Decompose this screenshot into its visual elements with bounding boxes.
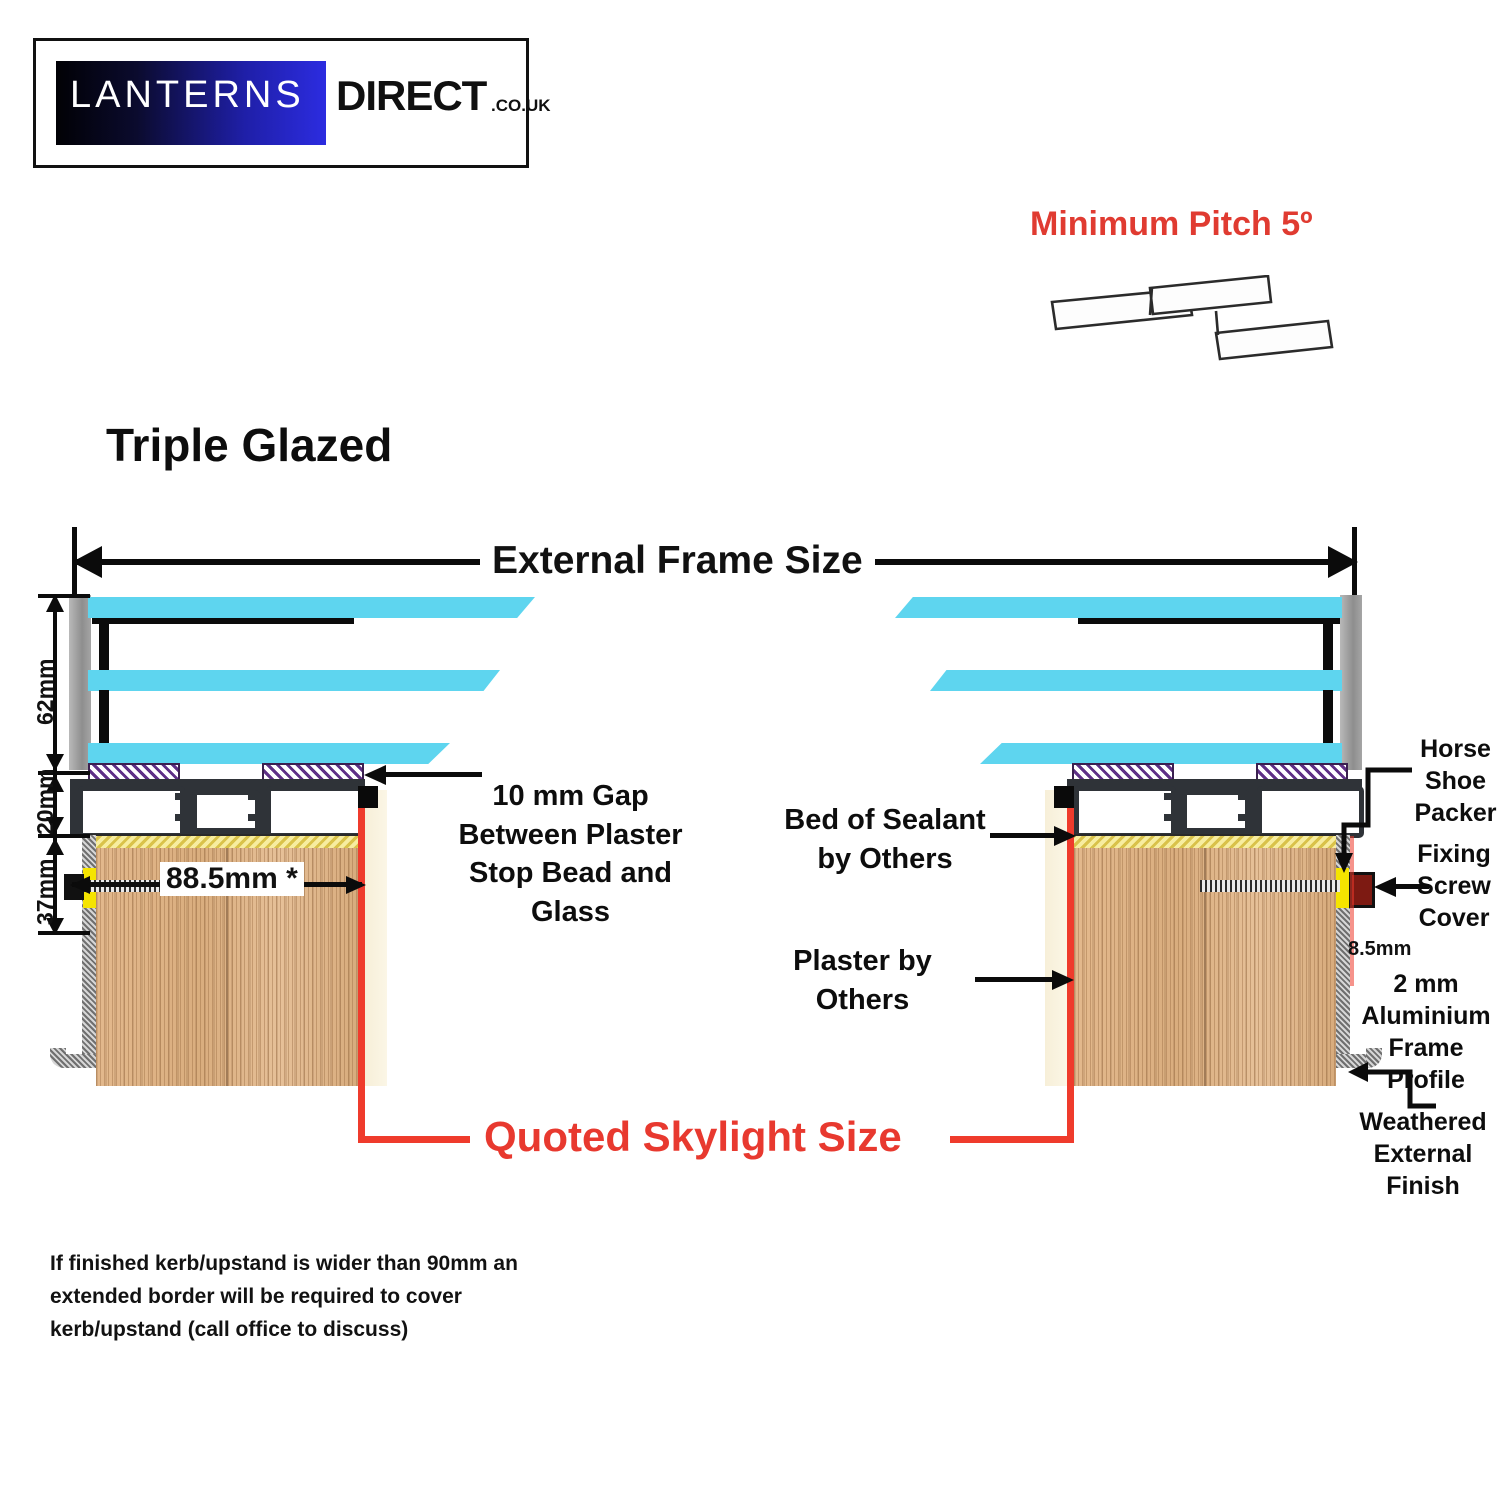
callout-horse-line-3: Packer [1408, 797, 1500, 829]
thermal-break-lower-left-right [1164, 814, 1184, 821]
callout-weather-line-3: Finish [1348, 1170, 1498, 1202]
footnote-text: If finished kerb/upstand is wider than 9… [50, 1247, 520, 1347]
qss-drop-left [358, 1081, 365, 1141]
callout-horse-shoe-packer: Horse Shoe Packer [1408, 733, 1500, 829]
callout-gap-line-3: Stop Bead and [448, 854, 693, 893]
thermal-break-lower-right-right [1238, 814, 1258, 821]
glass-spacer-top-right [1078, 618, 1340, 624]
callout-sealant: Bed of Sealant by Others [770, 801, 1000, 878]
callout-gap: 10 mm Gap Between Plaster Stop Bead and … [448, 777, 693, 931]
plaster-leader-line [975, 977, 1059, 982]
right-frame-edge-band [1340, 595, 1362, 770]
quoted-size-line-left [358, 786, 365, 1086]
callout-gap-line-1: 10 mm Gap [448, 777, 693, 816]
frame-chamber-inner-right [1074, 786, 1176, 838]
glass-pane-inner [88, 743, 450, 764]
thermal-break-upper-right [248, 793, 268, 800]
callout-horse-line-2: Shoe [1408, 765, 1500, 797]
callout-gap-line-2: Between Plaster [448, 816, 693, 855]
fixing-arrow-icon [1372, 876, 1398, 898]
glass-spacer-top [92, 618, 354, 624]
qss-line-right [950, 1136, 1074, 1143]
callout-plaster: Plaster by Others [770, 942, 955, 1019]
plaster-arrow-icon [1050, 969, 1076, 991]
dim-label-85mm: 8.5mm [1348, 938, 1411, 961]
sealant-arrow-icon [1052, 825, 1078, 847]
glass-pane-middle [88, 670, 500, 691]
glass-pane-outer [88, 597, 535, 618]
thermal-break-upper-right-right [1238, 793, 1258, 800]
callout-alum-line-2: Aluminium [1352, 1000, 1500, 1032]
quoted-skylight-size-label: Quoted Skylight Size [470, 1113, 916, 1161]
callout-fixing-line-3: Cover [1404, 902, 1500, 934]
horse-shoe-leader-icon [1330, 765, 1414, 875]
glass-pane-middle-right [930, 670, 1342, 691]
dim-label-20mm: 20mm [32, 769, 59, 835]
callout-sealant-line-2: by Others [770, 840, 1000, 879]
thermal-break-lower-left [175, 814, 195, 821]
frame-chamber-inner [266, 786, 368, 838]
right-cross-section [750, 0, 1500, 1500]
qss-line-left [358, 1136, 488, 1143]
thermal-break-upper-left-right [1164, 793, 1184, 800]
thermal-break-upper-left [175, 793, 195, 800]
plaster-stop-bead-right [1054, 786, 1074, 808]
left-frame-edge-band [69, 595, 91, 770]
weathered-finish-corner [50, 1048, 66, 1068]
fixing-screw-right [1200, 880, 1340, 892]
dim-label-885mm: 88.5mm * [160, 862, 304, 896]
callout-gap-line-4: Glass [448, 893, 693, 932]
plaster-layer [365, 790, 387, 1086]
thermal-break-lower-right [248, 814, 268, 821]
callout-plaster-line-2: Others [770, 981, 955, 1020]
dim-label-62mm: 62mm [32, 659, 59, 725]
plaster-stop-bead-left [358, 786, 378, 808]
callout-alum-line-1: 2 mm [1352, 968, 1500, 1000]
qss-drop-right [1067, 1081, 1074, 1141]
callout-weather-line-2: External [1348, 1138, 1498, 1170]
frame-chamber-outer [78, 786, 185, 838]
weathered-leader-icon [1340, 1060, 1440, 1120]
callout-fixing-line-1: Fixing [1404, 838, 1500, 870]
gap-arrow-icon [362, 764, 390, 786]
callout-horse-line-1: Horse [1408, 733, 1500, 765]
callout-weathered-finish: Weathered External Finish [1348, 1106, 1498, 1202]
glass-pane-outer-right [895, 597, 1342, 618]
callout-sealant-line-1: Bed of Sealant [770, 801, 1000, 840]
glass-pane-inner-right [980, 743, 1342, 764]
dim-label-37mm: 37mm [32, 859, 59, 925]
callout-plaster-line-1: Plaster by [770, 942, 955, 981]
